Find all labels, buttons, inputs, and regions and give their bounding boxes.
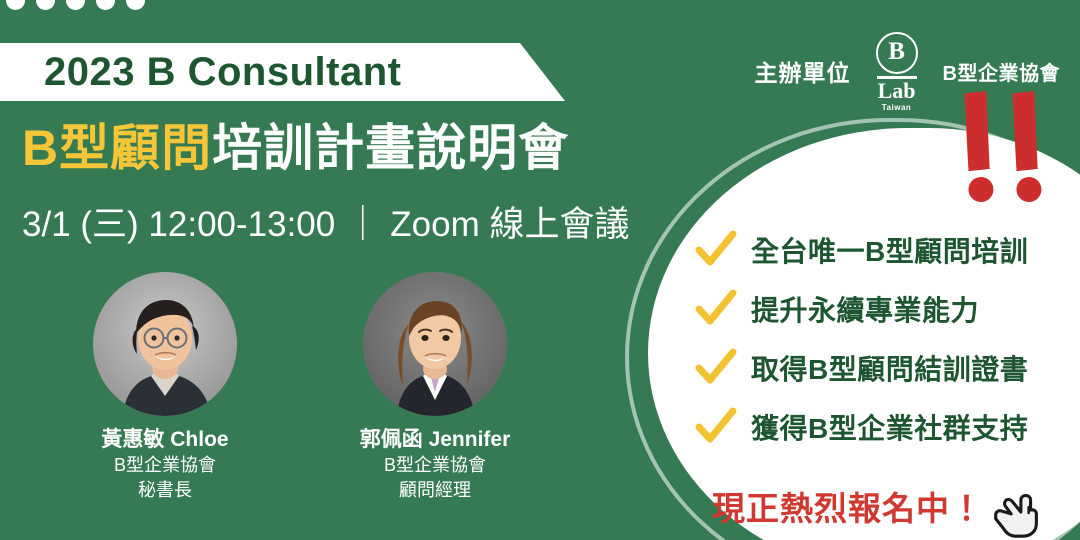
decorative-dot xyxy=(6,0,25,10)
subline-divider: ｜ xyxy=(335,203,390,247)
check-icon xyxy=(695,289,737,329)
exclamation-mark-icon xyxy=(1008,91,1045,203)
ribbon-title: 2023 B Consultant xyxy=(44,48,401,96)
benefit-label: 提升永續專業能力 xyxy=(751,289,979,329)
exclamation-mark-icon xyxy=(960,91,997,203)
decorative-dot xyxy=(96,0,115,10)
speaker-name: 郭佩函 Jennifer xyxy=(340,426,530,453)
promo-poster: 2023 B Consultant B型顧問培訓計畫說明會 3/1 (三) 12… xyxy=(0,0,1080,540)
avatar xyxy=(93,272,237,416)
list-item: 黃惠敏 Chloe B型企業協會 秘書長 xyxy=(70,272,260,503)
headline-highlight: B型顧問 xyxy=(22,120,212,176)
b-lab-circle-letter: B xyxy=(876,32,918,74)
list-item: 全台唯一B型顧問培訓 xyxy=(695,224,1028,276)
b-lab-name: Lab xyxy=(869,79,925,103)
speaker-org: B型企業協會 xyxy=(340,453,530,478)
event-date: 3/1 (三) 12:00-13:00 xyxy=(22,205,335,244)
event-datetime-line: 3/1 (三) 12:00-13:00｜Zoom 線上會議 xyxy=(22,203,629,247)
benefit-list: 全台唯一B型顧問培訓 提升永續專業能力 取得B型顧問結訓證書 xyxy=(695,224,1028,460)
benefit-label: 全台唯一B型顧問培訓 xyxy=(751,230,1028,270)
speaker-list: 黃惠敏 Chloe B型企業協會 秘書長 xyxy=(70,272,530,503)
hand-pointer-icon xyxy=(986,480,1048,540)
exclamation-decoration xyxy=(958,88,1078,213)
speaker-name: 黃惠敏 Chloe xyxy=(70,426,260,453)
decorative-dot xyxy=(66,0,85,10)
check-icon xyxy=(695,348,737,388)
b-lab-region: Taiwan xyxy=(869,103,925,113)
list-item: 獲得B型企業社群支持 xyxy=(695,401,1028,453)
avatar xyxy=(363,272,507,416)
check-icon xyxy=(695,407,737,447)
event-platform: Zoom 線上會議 xyxy=(390,205,629,244)
exclamation-dot xyxy=(967,176,994,203)
page-title: B型顧問培訓計畫說明會 xyxy=(22,118,569,178)
benefit-label: 獲得B型企業社群支持 xyxy=(751,407,1028,447)
speaker-org: B型企業協會 xyxy=(70,453,260,478)
list-item: 取得B型顧問結訓證書 xyxy=(695,342,1028,394)
benefit-label: 取得B型顧問結訓證書 xyxy=(751,348,1028,388)
list-item: 提升永續專業能力 xyxy=(695,283,1028,335)
decorative-dot xyxy=(36,0,55,10)
decorative-dot xyxy=(126,0,145,10)
b-lab-logo-icon: B Lab Taiwan xyxy=(869,32,925,104)
check-icon xyxy=(695,230,737,270)
organiser-label: 主辦單位 xyxy=(755,54,851,88)
cta-label: 現正熱烈報名中！ xyxy=(712,482,984,530)
cta-block[interactable]: 現正熱烈報名中！ xyxy=(712,470,1048,540)
list-item: 郭佩函 Jennifer B型企業協會 顧問經理 xyxy=(340,272,530,503)
speaker-role: 秘書長 xyxy=(70,478,260,503)
speaker-role: 顧問經理 xyxy=(340,478,530,503)
organiser-name: B型企業協會 xyxy=(943,57,1060,86)
headline-rest: 培訓計畫說明會 xyxy=(212,120,569,176)
exclamation-dot xyxy=(1015,176,1042,203)
organiser-block: 主辦單位 B Lab Taiwan B型企業協會 xyxy=(755,38,1060,104)
decorative-dot-row xyxy=(6,0,145,10)
